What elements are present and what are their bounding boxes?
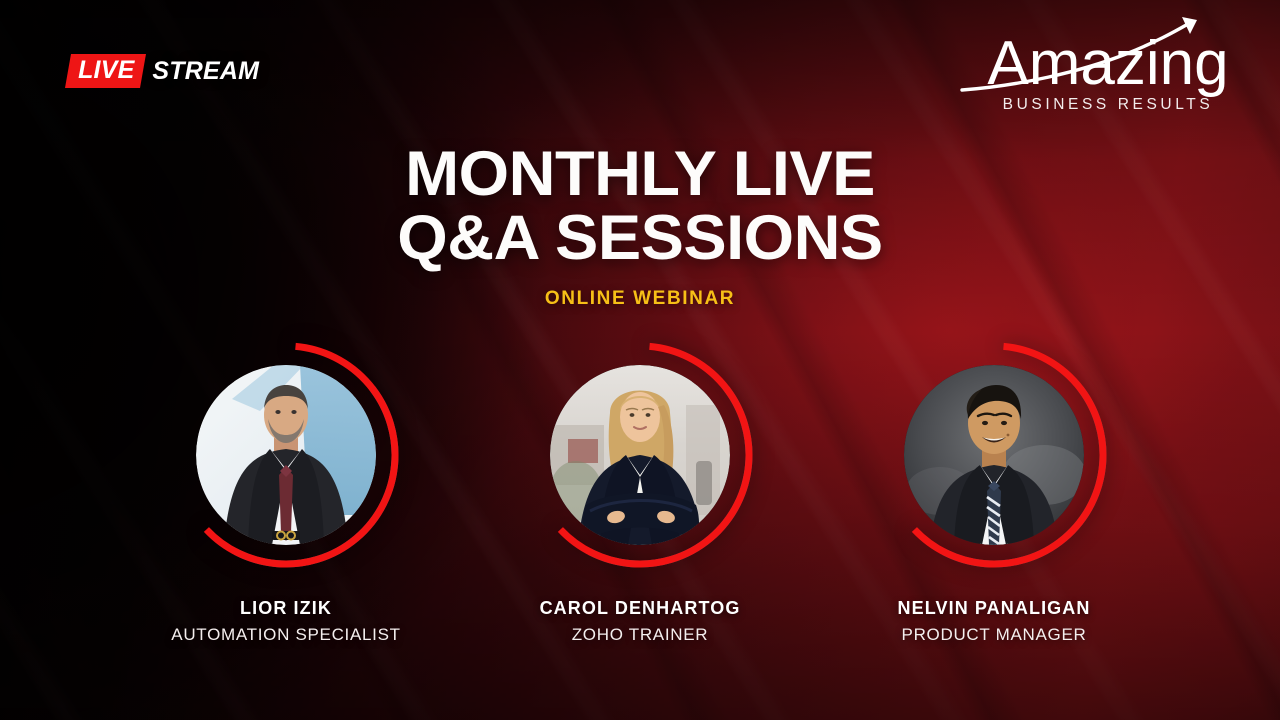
live-label-box: LIVE [65, 54, 146, 88]
speaker-portrait-lior [196, 365, 376, 545]
speaker-card: NELVIN PANALIGAN PRODUCT MANAGER [881, 342, 1107, 645]
webinar-promo-slide: LIVE STREAM Amazing BUSINESS RESULTS MON… [0, 0, 1280, 720]
logo-wordmark: Amazing [987, 29, 1228, 98]
avatar [527, 342, 753, 568]
avatar-photo [550, 365, 730, 545]
speaker-portrait-carol [550, 365, 730, 545]
speaker-role: AUTOMATION SPECIALIST [171, 625, 400, 645]
live-stream-badge: LIVE STREAM [68, 54, 259, 88]
speaker-name: CAROL DENHARTOG [540, 598, 741, 619]
speaker-name: LIOR IZIK [240, 598, 332, 619]
logo-tagline: BUSINESS RESULTS [1003, 96, 1214, 113]
brand-logo: Amazing BUSINESS RESULTS [958, 14, 1258, 122]
speaker-card: LIOR IZIK AUTOMATION SPECIALIST [173, 342, 399, 645]
speaker-list: LIOR IZIK AUTOMATION SPECIALIST [0, 342, 1280, 645]
page-subtitle: ONLINE WEBINAR [0, 288, 1280, 310]
avatar-photo [904, 365, 1084, 545]
avatar [881, 342, 1107, 568]
avatar [173, 342, 399, 568]
speaker-role: ZOHO TRAINER [572, 625, 709, 645]
page-title-line-2: Q&A SESSIONS [0, 210, 1280, 268]
avatar-photo [196, 365, 376, 545]
title-block: MONTHLY LIVE Q&A SESSIONS ONLINE WEBINAR [0, 146, 1280, 310]
page-title-line-1: MONTHLY LIVE [0, 146, 1280, 204]
stream-label: STREAM [152, 57, 259, 86]
speaker-portrait-nelvin [904, 365, 1084, 545]
speaker-role: PRODUCT MANAGER [902, 625, 1087, 645]
speaker-name: NELVIN PANALIGAN [898, 598, 1091, 619]
live-label: LIVE [78, 56, 134, 85]
speaker-card: CAROL DENHARTOG ZOHO TRAINER [527, 342, 753, 645]
